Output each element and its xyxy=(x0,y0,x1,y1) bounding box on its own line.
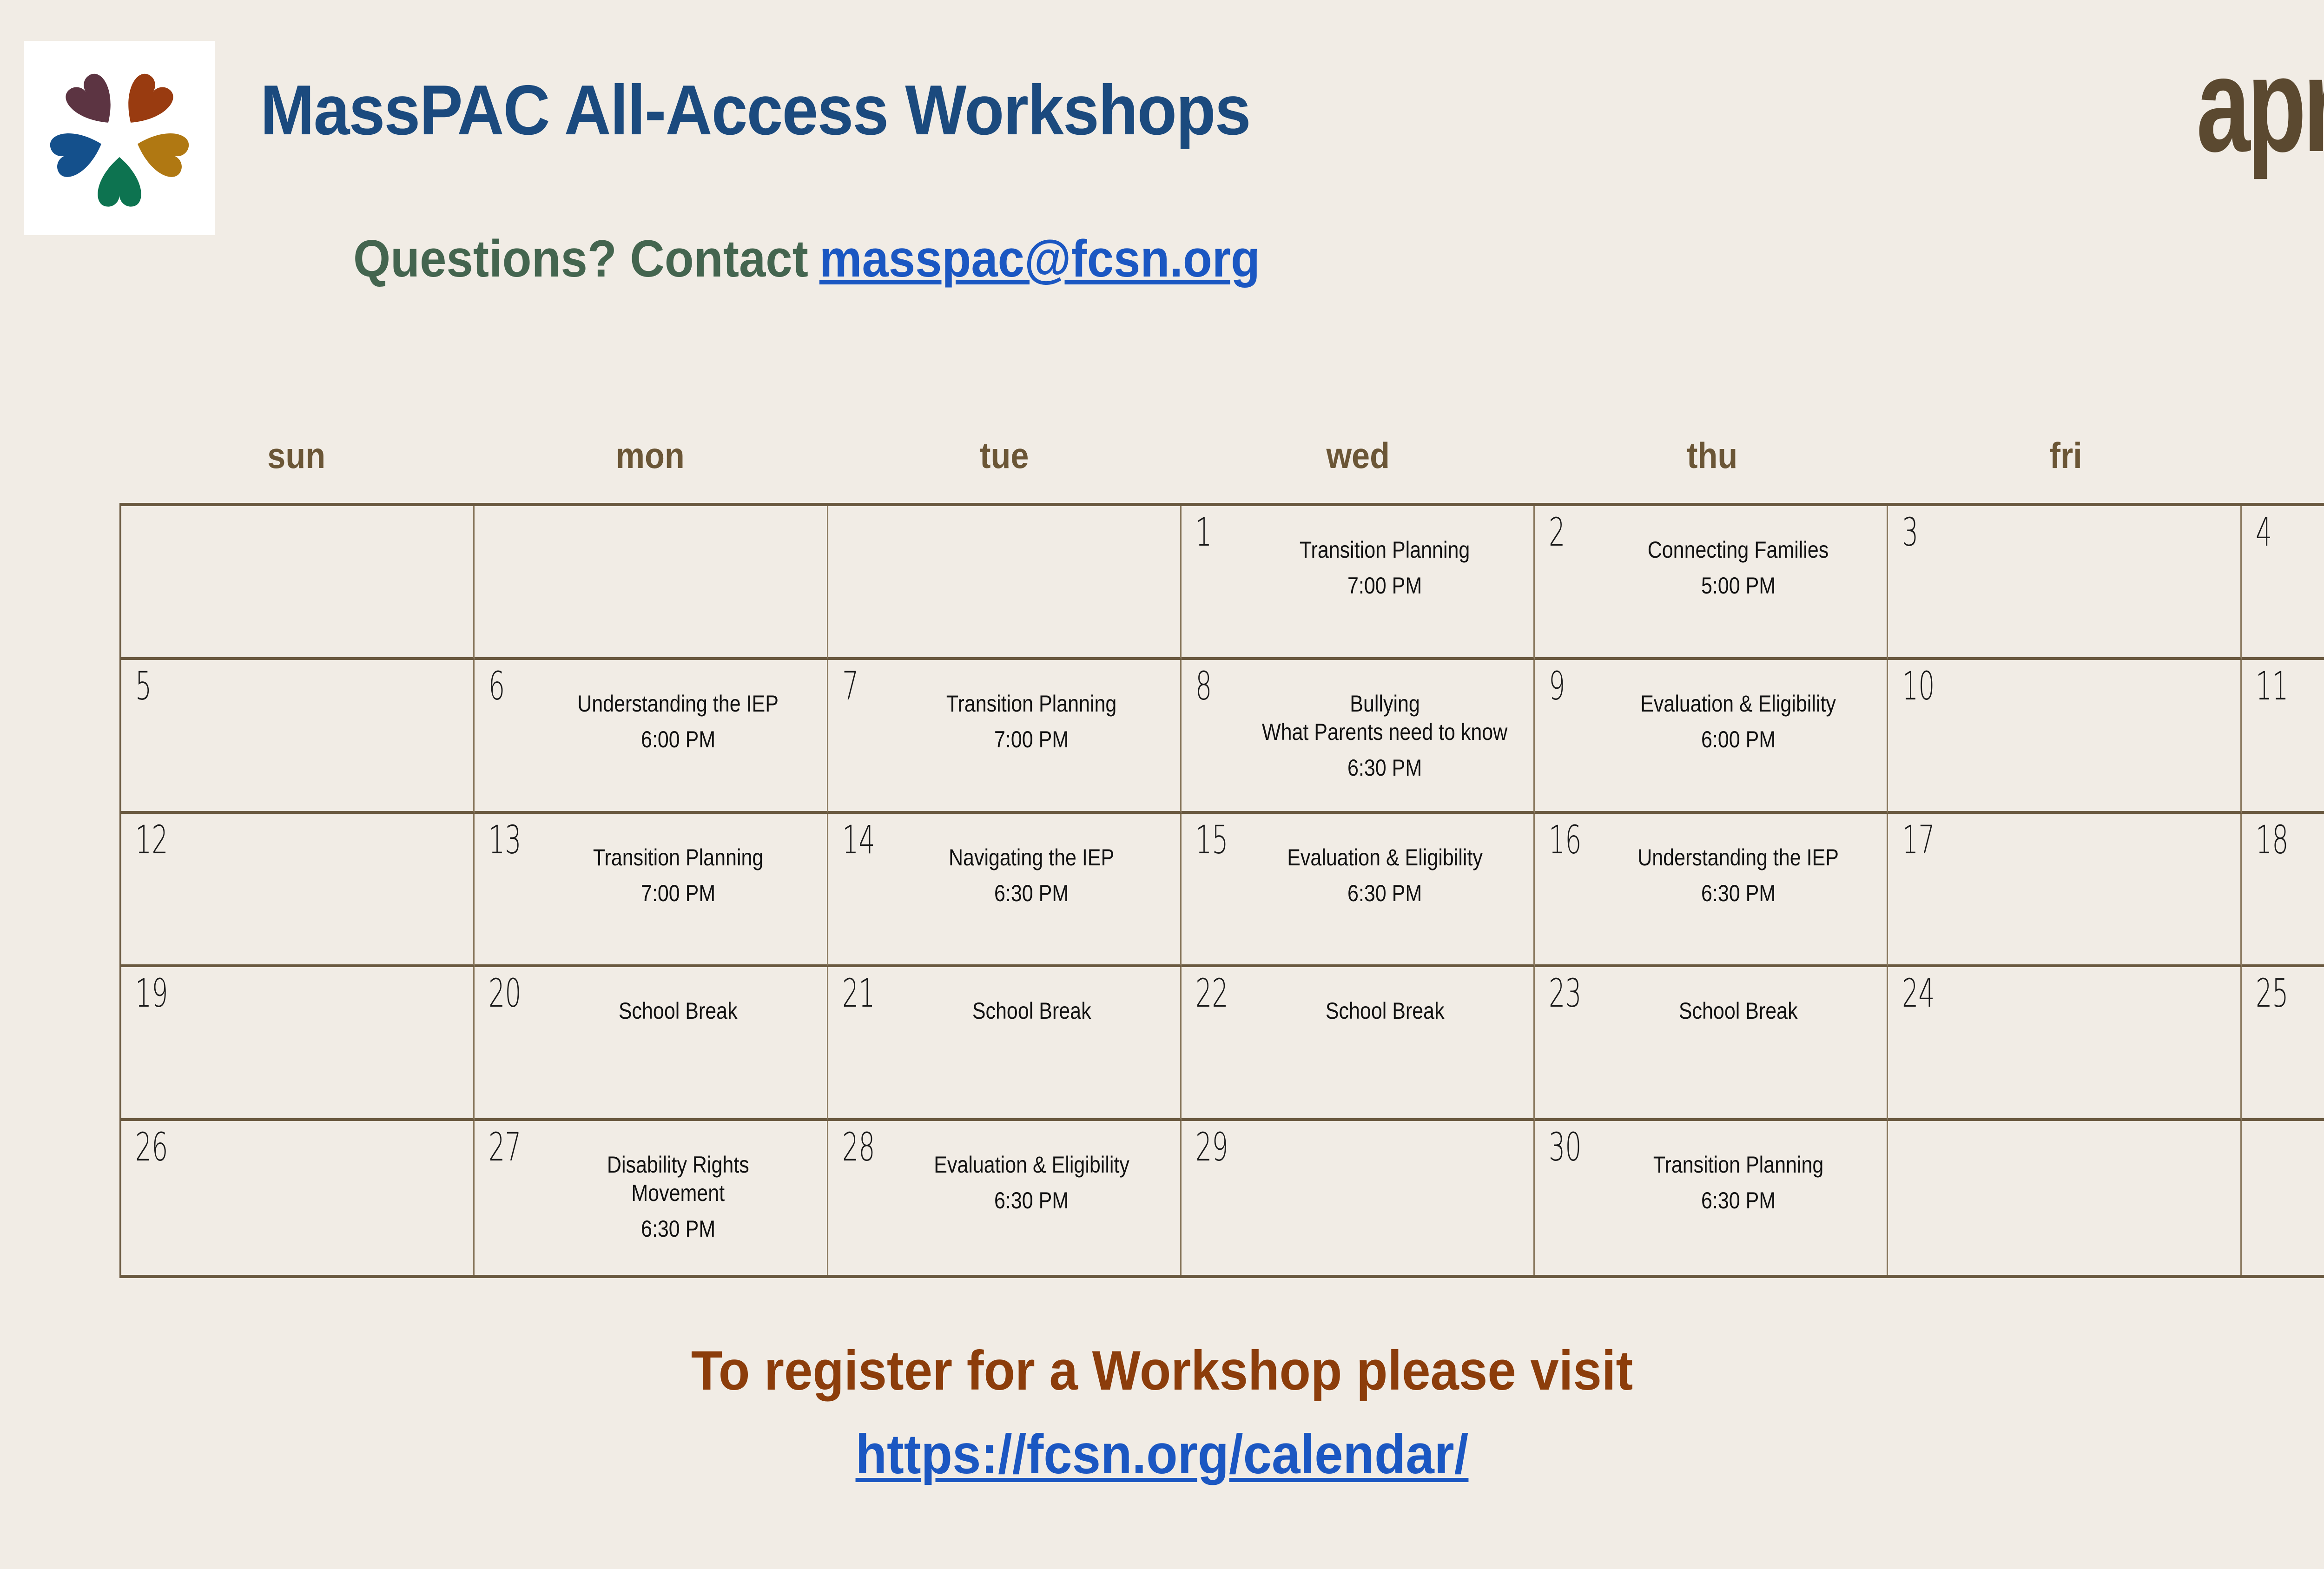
calendar-grid: 1Transition Planning7:00 PM2Connecting F… xyxy=(119,503,2324,1278)
day-number: 26 xyxy=(135,1127,168,1167)
calendar-day-cell[interactable]: 27Disability RightsMovement6:30 PM xyxy=(475,1121,828,1275)
calendar-day-cell[interactable]: 16Understanding the IEP6:30 PM xyxy=(1535,814,1888,968)
day-number: 7 xyxy=(842,666,858,706)
calendar-day-cell[interactable]: 7Transition Planning7:00 PM xyxy=(828,660,1182,814)
day-number: 9 xyxy=(1549,666,1565,706)
event-list: Connecting Families5:00 PM xyxy=(1595,536,1881,601)
day-number: 30 xyxy=(1549,1127,1582,1167)
page-title: MassPAC All-Access Workshops xyxy=(260,70,1250,151)
day-number: 18 xyxy=(2256,819,2289,860)
day-number: 14 xyxy=(842,819,875,860)
event-list: Evaluation & Eligibility6:00 PM xyxy=(1595,690,1881,755)
day-number: 23 xyxy=(1549,973,1582,1014)
event-title[interactable]: Transition Planning xyxy=(1300,536,1470,564)
event-title[interactable]: Evaluation & Eligibility xyxy=(934,1151,1129,1179)
weekday-header-thu: thu xyxy=(1553,428,1871,483)
qr-caption: Scan the QR code xyxy=(2302,1504,2324,1554)
calendar-day-cell[interactable] xyxy=(1888,1121,2241,1275)
event-list: School Break xyxy=(1242,997,1528,1025)
day-number: 6 xyxy=(489,666,505,706)
day-number: 15 xyxy=(1195,819,1228,860)
weekday-header-tue: tue xyxy=(845,428,1163,483)
event-list: Transition Planning7:00 PM xyxy=(889,690,1175,755)
day-number: 16 xyxy=(1549,819,1582,860)
day-number: 10 xyxy=(1902,666,1935,706)
day-number: 24 xyxy=(1902,973,1935,1014)
calendar-day-cell[interactable]: 12 xyxy=(121,814,475,968)
event-list: Transition Planning7:00 PM xyxy=(535,844,821,909)
calendar-day-cell[interactable]: 21School Break xyxy=(828,967,1182,1121)
day-number: 21 xyxy=(842,973,875,1014)
weekday-header-row: sun mon tue wed thu fri sat xyxy=(119,428,2324,483)
day-number: 12 xyxy=(135,819,168,860)
calendar-day-cell[interactable]: 3 xyxy=(1888,506,2241,660)
day-number: 22 xyxy=(1195,973,1228,1014)
calendar-day-cell[interactable]: 15Evaluation & Eligibility6:30 PM xyxy=(1182,814,1535,968)
event-time: 6:30 PM xyxy=(1701,878,1776,909)
event-time: 6:00 PM xyxy=(641,725,715,755)
event-list: Transition Planning6:30 PM xyxy=(1595,1151,1881,1216)
event-time: 6:30 PM xyxy=(994,878,1069,909)
calendar-day-cell[interactable]: 1Transition Planning7:00 PM xyxy=(1182,506,1535,660)
event-time: 6:30 PM xyxy=(994,1186,1069,1216)
event-list: School Break xyxy=(889,997,1175,1025)
day-number: 20 xyxy=(489,973,522,1014)
event-title[interactable]: Transition Planning xyxy=(593,844,764,872)
day-number: 11 xyxy=(2256,666,2289,706)
contact-label: Questions? Contact xyxy=(353,230,808,288)
calendar-day-cell[interactable]: 20School Break xyxy=(475,967,828,1121)
calendar-day-cell[interactable]: 11 xyxy=(2242,660,2324,814)
event-time: 5:00 PM xyxy=(1701,571,1776,601)
calendar-day-cell[interactable]: 9Evaluation & Eligibility6:00 PM xyxy=(1535,660,1888,814)
register-instruction: To register for a Workshop please visit xyxy=(93,1338,2231,1403)
event-list: BullyingWhat Parents need to know6:30 PM xyxy=(1242,690,1528,783)
event-time: 6:30 PM xyxy=(1347,878,1422,909)
event-list: Disability RightsMovement6:30 PM xyxy=(535,1151,821,1244)
day-number: 5 xyxy=(135,666,152,706)
event-list: Evaluation & Eligibility6:30 PM xyxy=(889,1151,1175,1216)
event-title[interactable]: Evaluation & Eligibility xyxy=(1640,690,1836,718)
event-list: Evaluation & Eligibility6:30 PM xyxy=(1242,844,1528,909)
event-list: Understanding the IEP6:30 PM xyxy=(1595,844,1881,909)
contact-line: Questions? Contactmasspac@fcsn.org xyxy=(353,229,1260,289)
event-time: 6:30 PM xyxy=(1701,1186,1776,1216)
event-title[interactable]: School Break xyxy=(1326,997,1445,1025)
month-label: april xyxy=(2196,37,2324,172)
calendar-day-cell[interactable]: 19 xyxy=(121,967,475,1121)
event-list: School Break xyxy=(535,997,821,1025)
event-time: 7:00 PM xyxy=(1347,571,1422,601)
calendar-day-cell[interactable]: 13Transition Planning7:00 PM xyxy=(475,814,828,968)
calendar-day-cell[interactable]: 17 xyxy=(1888,814,2241,968)
five-hearts-logo xyxy=(24,41,215,235)
event-title[interactable]: Transition Planning xyxy=(1653,1151,1824,1179)
calendar-day-cell[interactable] xyxy=(121,506,475,660)
event-time: 6:30 PM xyxy=(1347,753,1422,783)
event-title[interactable]: Navigating the IEP xyxy=(949,844,1114,872)
calendar-url-link[interactable]: https://fcsn.org/calendar/ xyxy=(93,1422,2231,1486)
calendar-day-cell[interactable]: 25 xyxy=(2242,967,2324,1121)
calendar-day-cell[interactable]: 10 xyxy=(1888,660,2241,814)
weekday-header-fri: fri xyxy=(1907,428,2225,483)
calendar-day-cell[interactable] xyxy=(828,506,1182,660)
weekday-header-sun: sun xyxy=(137,428,456,483)
calendar-day-cell[interactable]: 5 xyxy=(121,660,475,814)
calendar-day-cell[interactable]: 23School Break xyxy=(1535,967,1888,1121)
event-title[interactable]: Transition Planning xyxy=(946,690,1117,718)
event-title[interactable]: Bullying xyxy=(1350,690,1420,718)
day-number: 4 xyxy=(2256,512,2272,553)
calendar-day-cell[interactable] xyxy=(2242,1121,2324,1275)
event-subtitle: Movement xyxy=(632,1179,725,1207)
event-title[interactable]: Understanding the IEP xyxy=(1637,844,1839,872)
event-list: Navigating the IEP6:30 PM xyxy=(889,844,1175,909)
event-title[interactable]: Evaluation & Eligibility xyxy=(1287,844,1483,872)
event-list: Understanding the IEP6:00 PM xyxy=(535,690,821,755)
event-title[interactable]: School Break xyxy=(619,997,738,1025)
calendar-day-cell[interactable]: 6Understanding the IEP6:00 PM xyxy=(475,660,828,814)
day-number: 27 xyxy=(489,1127,522,1167)
day-number: 25 xyxy=(2256,973,2289,1014)
day-number: 19 xyxy=(135,973,168,1014)
calendar-day-cell[interactable]: 4 xyxy=(2242,506,2324,660)
calendar-day-cell[interactable]: 22School Break xyxy=(1182,967,1535,1121)
calendar-day-cell[interactable] xyxy=(475,506,828,660)
day-number: 28 xyxy=(842,1127,875,1167)
day-number: 1 xyxy=(1195,512,1212,553)
calendar-day-cell[interactable]: 8BullyingWhat Parents need to know6:30 P… xyxy=(1182,660,1535,814)
five-hearts-logo-icon xyxy=(24,41,215,235)
day-number: 17 xyxy=(1902,819,1935,860)
day-number: 2 xyxy=(1549,512,1565,553)
calendar-day-cell[interactable]: 26 xyxy=(121,1121,475,1275)
calendar-day-cell[interactable]: 18 xyxy=(2242,814,2324,968)
calendar-day-cell[interactable]: 24 xyxy=(1888,967,2241,1121)
event-title[interactable]: Connecting Families xyxy=(1648,536,1829,564)
event-list: School Break xyxy=(1595,997,1881,1025)
weekday-header-sat: sat xyxy=(2261,428,2324,483)
event-title[interactable]: Understanding the IEP xyxy=(578,690,779,718)
day-number: 8 xyxy=(1195,666,1212,706)
day-number: 13 xyxy=(489,819,522,860)
event-title[interactable]: School Break xyxy=(972,997,1091,1025)
event-time: 6:30 PM xyxy=(641,1214,715,1244)
day-number: 3 xyxy=(1902,512,1918,553)
calendar-day-cell[interactable]: 2Connecting Families5:00 PM xyxy=(1535,506,1888,660)
weekday-header-wed: wed xyxy=(1199,428,1517,483)
event-title[interactable]: School Break xyxy=(1679,997,1798,1025)
event-subtitle: What Parents need to know xyxy=(1262,718,1507,746)
event-time: 7:00 PM xyxy=(641,878,715,909)
calendar-day-cell[interactable]: 14Navigating the IEP6:30 PM xyxy=(828,814,1182,968)
event-list: Transition Planning7:00 PM xyxy=(1242,536,1528,601)
calendar-day-cell[interactable]: 29 xyxy=(1182,1121,1535,1275)
contact-email-link[interactable]: masspac@fcsn.org xyxy=(819,230,1260,288)
calendar-day-cell[interactable]: 28Evaluation & Eligibility6:30 PM xyxy=(828,1121,1182,1275)
day-number: 29 xyxy=(1195,1127,1228,1167)
event-title[interactable]: Disability Rights xyxy=(607,1151,749,1179)
calendar-day-cell[interactable]: 30Transition Planning6:30 PM xyxy=(1535,1121,1888,1275)
weekday-header-mon: mon xyxy=(491,428,809,483)
page-header: MassPAC All-Access Workshops Questions? … xyxy=(0,0,2324,353)
event-time: 6:00 PM xyxy=(1701,725,1776,755)
event-time: 7:00 PM xyxy=(994,725,1069,755)
